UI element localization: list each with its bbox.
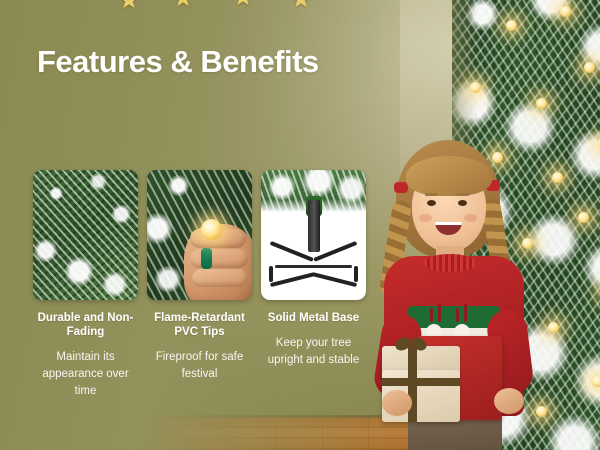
star-icon xyxy=(290,0,312,10)
lit-bulb-icon xyxy=(201,219,222,240)
tree-light xyxy=(548,322,559,333)
feature-item-durable: Durable and Non-Fading Maintain its appe… xyxy=(33,170,138,400)
tree-light xyxy=(470,82,481,93)
tree-light xyxy=(578,212,589,223)
motif-antler xyxy=(430,308,433,322)
feature-list: Durable and Non-Fading Maintain its appe… xyxy=(33,170,365,400)
finger xyxy=(192,269,248,287)
gift-ribbon-vertical xyxy=(408,346,417,422)
feature-thumbnail-stand[interactable] xyxy=(261,170,366,300)
motif-antler xyxy=(464,304,467,322)
feature-body: Keep your tree upright and stable xyxy=(261,335,366,369)
eyebrow-right xyxy=(456,193,469,196)
page-title: Features & Benefits xyxy=(37,44,319,80)
foliage-image xyxy=(33,170,138,300)
feature-title: Solid Metal Base xyxy=(261,311,366,325)
hand-right xyxy=(494,388,524,414)
feature-body: Maintain its appearance over time xyxy=(33,349,138,400)
fringe xyxy=(406,156,492,196)
feature-item-flame-retardant: Flame-Retardant PVC Tips Fireproof for s… xyxy=(147,170,252,400)
eye-left xyxy=(427,200,436,206)
eyebrow-left xyxy=(425,193,438,196)
finger xyxy=(190,249,248,268)
green-ring xyxy=(201,248,212,269)
stand-pole xyxy=(308,200,320,252)
feature-item-metal-base: Solid Metal Base Keep your tree upright … xyxy=(261,170,366,400)
star-icon xyxy=(172,0,194,9)
stand-foot xyxy=(354,266,358,282)
stand-foot xyxy=(269,266,273,282)
hair-bow-left xyxy=(394,182,408,193)
star-icon xyxy=(232,0,254,8)
eye-right xyxy=(458,200,467,206)
girl-photo xyxy=(378,138,548,450)
tree-light xyxy=(536,98,547,109)
tree-light xyxy=(552,172,563,183)
stand-cross-bar xyxy=(275,265,352,268)
features-benefits-banner: Features & Benefits Durable and Non-Fadi… xyxy=(0,0,600,450)
tree-light xyxy=(584,62,595,73)
sweater-collar xyxy=(424,254,476,272)
cheek-left xyxy=(419,214,432,222)
star-icon xyxy=(118,0,140,11)
feature-thumbnail-bulb[interactable] xyxy=(147,170,252,300)
gift-bow xyxy=(398,338,428,356)
motif-antler xyxy=(438,304,441,322)
feature-title: Flame-Retardant PVC Tips xyxy=(147,311,252,339)
tree-light xyxy=(592,376,600,387)
cheek-right xyxy=(464,214,477,222)
hand-left xyxy=(382,390,412,416)
gift-ribbon-horizontal xyxy=(382,378,460,386)
feature-thumbnail-foliage[interactable] xyxy=(33,170,138,300)
tree-light xyxy=(506,20,517,31)
tree-light xyxy=(560,6,571,17)
motif-antler xyxy=(456,308,459,322)
feature-body: Fireproof for safe festival xyxy=(147,349,252,383)
feature-title: Durable and Non-Fading xyxy=(33,311,138,339)
